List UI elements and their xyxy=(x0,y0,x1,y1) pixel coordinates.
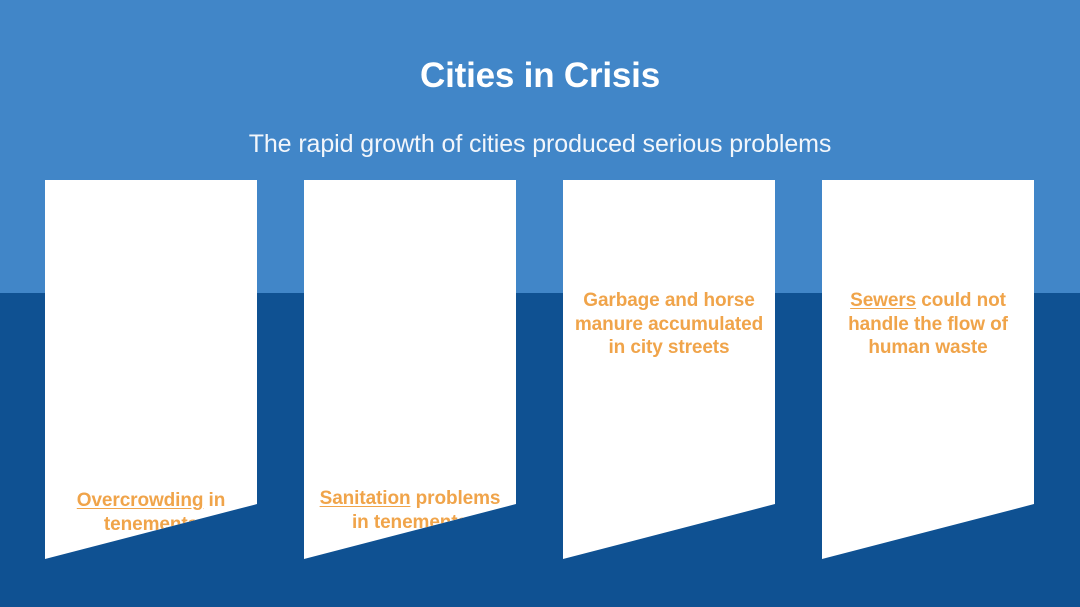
card-4-keyword[interactable]: Sewers xyxy=(850,290,916,311)
content-card-2[interactable]: Sanitation problems in tenements xyxy=(304,180,516,559)
page-subtitle: The rapid growth of cities produced seri… xyxy=(0,128,1080,160)
content-card-1[interactable]: Overcrowding in tenements xyxy=(45,180,257,559)
card-3-text: Garbage and horse manure accumulated in … xyxy=(573,289,765,360)
card-3-rest: Garbage and horse manure accumulated in … xyxy=(575,290,763,358)
card-4-text: Sewers could not handle the flow of huma… xyxy=(832,289,1024,360)
content-card-3[interactable]: Garbage and horse manure accumulated in … xyxy=(563,180,775,559)
card-2-keyword[interactable]: Sanitation xyxy=(320,488,411,509)
content-card-4[interactable]: Sewers could not handle the flow of huma… xyxy=(822,180,1034,559)
card-1-keyword[interactable]: Overcrowding xyxy=(77,490,204,511)
slide-canvas: Cities in Crisis The rapid growth of cit… xyxy=(0,0,1080,607)
page-title: Cities in Crisis xyxy=(0,54,1080,98)
